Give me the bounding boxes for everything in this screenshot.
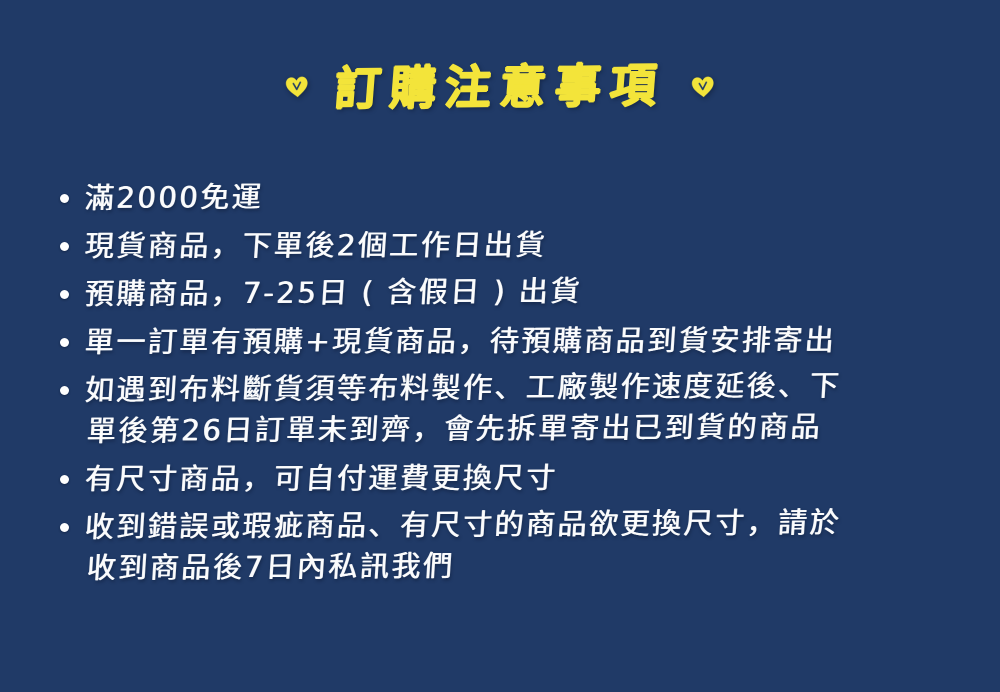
list-item-text: 有尺寸商品，可自付運費更換尺寸 xyxy=(85,459,965,500)
page-title: 訂購注意事項 xyxy=(0,62,1000,113)
bullet-icon xyxy=(60,194,69,203)
list-item-line: 有尺寸商品，可自付運費更換尺寸 xyxy=(84,457,967,500)
list-item-line: 收到錯誤或瑕疵商品、有尺寸的商品欲更換尺寸，請於 xyxy=(84,502,967,548)
list-item-line: 單一訂單有預購+現貨商品，待預購商品到貨安排寄出 xyxy=(84,320,967,363)
bullet-icon xyxy=(60,523,69,532)
list-item-text: 預購商品，7-25日 ( 含假日 ) 出貨 xyxy=(85,274,965,315)
order-notice-poster: 訂購注意事項 滿2000免運 現貨商品，下單後2個工作日出貨 預購商品，7-25… xyxy=(0,0,1000,692)
bullet-icon xyxy=(60,338,69,347)
list-item-text: 單一訂單有預購+現貨商品，待預購商品到貨安排寄出 xyxy=(85,322,965,363)
bullet-icon xyxy=(60,242,69,251)
list-item: 現貨商品，下單後2個工作日出貨 xyxy=(60,226,965,267)
list-item-line: 收到商品後7日內私訊我們 xyxy=(84,543,967,589)
heart-icon xyxy=(690,75,715,99)
list-item-line: 現貨商品，下單後2個工作日出貨 xyxy=(84,224,967,267)
list-item: 單一訂單有預購+現貨商品，待預購商品到貨安排寄出 xyxy=(60,322,965,363)
list-item: 滿2000免運 xyxy=(60,178,965,219)
list-item: 有尺寸商品，可自付運費更換尺寸 xyxy=(60,459,965,500)
list-item: 如遇到布料斷貨須等布料製作、工廠製作速度延後、下 單後第26日訂單未到齊，會先拆… xyxy=(60,370,965,452)
notice-list: 滿2000免運 現貨商品，下單後2個工作日出貨 預購商品，7-25日 ( 含假日… xyxy=(60,178,965,596)
bullet-icon xyxy=(60,290,69,299)
list-item-line: 如遇到布料斷貨須等布料製作、工廠製作速度延後、下 xyxy=(84,365,967,411)
list-item: 收到錯誤或瑕疵商品、有尺寸的商品欲更換尺寸，請於 收到商品後7日內私訊我們 xyxy=(60,507,965,589)
list-item-text: 現貨商品，下單後2個工作日出貨 xyxy=(85,226,965,267)
list-item-text: 收到錯誤或瑕疵商品、有尺寸的商品欲更換尺寸，請於 收到商品後7日內私訊我們 xyxy=(85,507,965,589)
list-item-text: 滿2000免運 xyxy=(85,178,965,219)
heart-icon xyxy=(284,75,309,99)
list-item-line: 預購商品，7-25日 ( 含假日 ) 出貨 xyxy=(84,269,967,315)
list-item-line: 單後第26日訂單未到齊，會先拆單寄出已到貨的商品 xyxy=(84,406,967,452)
bullet-icon xyxy=(60,475,69,484)
list-item-text: 如遇到布料斷貨須等布料製作、工廠製作速度延後、下 單後第26日訂單未到齊，會先拆… xyxy=(85,370,965,452)
bullet-icon xyxy=(60,386,69,395)
list-item: 預購商品，7-25日 ( 含假日 ) 出貨 xyxy=(60,274,965,315)
page-title-text: 訂購注意事項 xyxy=(333,60,667,114)
list-item-line: 滿2000免運 xyxy=(84,173,967,219)
